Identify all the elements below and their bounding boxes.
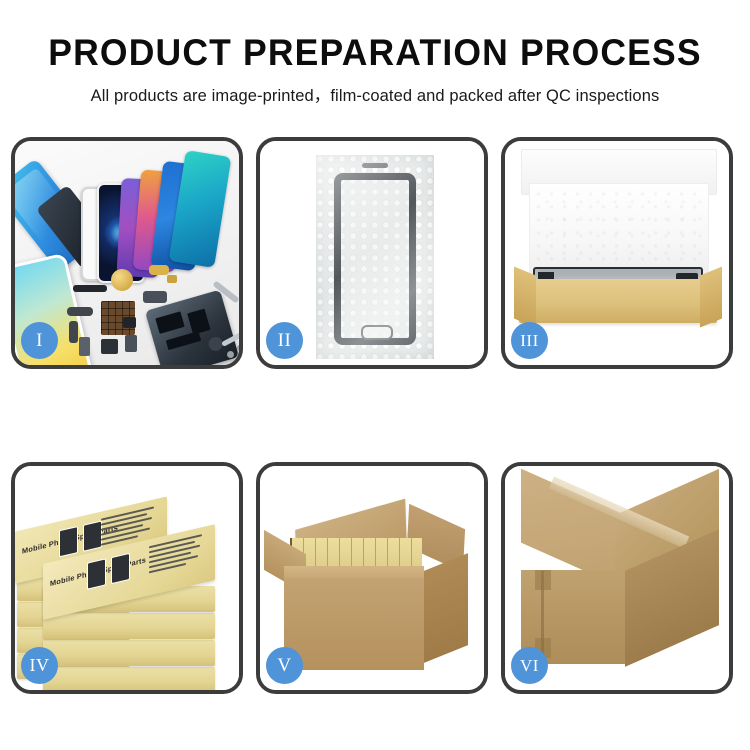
step-badge-3: III bbox=[511, 322, 548, 359]
step-panel-6: VI bbox=[501, 462, 733, 694]
part-sim-tray bbox=[79, 337, 90, 356]
part-ic-chip bbox=[123, 317, 136, 328]
step-panel-3: III bbox=[501, 137, 733, 369]
thumbnail-screen-2 bbox=[83, 520, 102, 551]
board-chip-2 bbox=[187, 309, 210, 335]
step-panel-2: II bbox=[256, 137, 488, 369]
board-chip-3 bbox=[166, 331, 201, 350]
step-badge-4: IV bbox=[21, 647, 58, 684]
part-flex-cable-1 bbox=[67, 307, 93, 316]
part-screw-1 bbox=[227, 351, 234, 358]
thumbnail-screen-2 bbox=[111, 553, 130, 584]
part-battery-connector bbox=[125, 335, 137, 352]
stacked-box bbox=[43, 640, 215, 666]
step-badge-2: II bbox=[266, 322, 303, 359]
box-screen-thumbnails bbox=[87, 553, 130, 590]
board-chip-1 bbox=[155, 311, 184, 334]
bubble-wrap-sheet bbox=[316, 155, 434, 359]
stacked-box bbox=[43, 613, 215, 639]
step-badge-6: VI bbox=[511, 647, 548, 684]
process-steps-grid: I II III bbox=[11, 137, 739, 694]
kraft-box-front bbox=[519, 279, 717, 323]
part-vibration-motor bbox=[111, 269, 133, 291]
part-gold-contact-2 bbox=[167, 275, 177, 283]
step-badge-5: V bbox=[266, 647, 303, 684]
stacked-box bbox=[43, 667, 215, 690]
product-detail-1 bbox=[538, 272, 554, 279]
wrapped-screen bbox=[334, 173, 416, 345]
carton-tab-top bbox=[535, 570, 551, 590]
step-panel-4: Mobile Phone Spare Parts Mobile Phone Sp… bbox=[11, 462, 243, 694]
page-subtitle: All products are image-printed，film-coat… bbox=[0, 82, 750, 106]
page-title: PRODUCT PREPARATION PROCESS bbox=[15, 34, 735, 73]
step-panel-1: I bbox=[11, 137, 243, 369]
part-camera-module bbox=[143, 291, 167, 303]
step-badge-1: I bbox=[21, 322, 58, 359]
part-screw-2 bbox=[237, 345, 239, 351]
part-earpiece bbox=[101, 339, 118, 354]
thumbnail-screen-1 bbox=[59, 526, 78, 557]
thumbnail-screen-1 bbox=[87, 558, 106, 589]
step-panel-5: V bbox=[256, 462, 488, 694]
box-spec-lines bbox=[149, 533, 207, 576]
carton-front-panel bbox=[284, 578, 424, 670]
part-flex-cable-2 bbox=[69, 321, 78, 343]
part-speaker-bar bbox=[73, 285, 107, 292]
carton-side-panel bbox=[424, 553, 468, 663]
page-header: PRODUCT PREPARATION PROCESS All products… bbox=[0, 0, 750, 106]
part-gold-contact-1 bbox=[149, 265, 169, 275]
